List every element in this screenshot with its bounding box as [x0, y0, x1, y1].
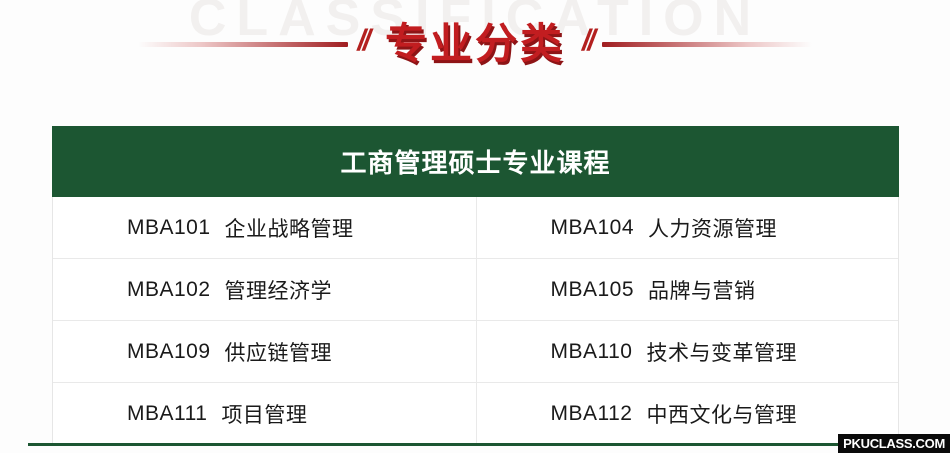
- table-row: MBA102 管理经济学 MBA105 品牌与营销: [53, 259, 898, 321]
- course-name: 技术与变革管理: [647, 337, 798, 367]
- course-table-header-title: 工商管理硕士专业课程: [340, 143, 610, 180]
- footer-divider: [28, 443, 920, 446]
- course-table: 工商管理硕士专业课程 MBA101 企业战略管理 MBA104 人力资源管理 M…: [52, 126, 899, 444]
- course-code: MBA104: [551, 216, 635, 240]
- banner-rule-right: [602, 42, 812, 47]
- site-watermark-badge: PKUCLASS.COM: [838, 434, 950, 453]
- course-name: 项目管理: [221, 399, 307, 429]
- course-cell[interactable]: MBA105 品牌与营销: [476, 259, 899, 320]
- course-cell[interactable]: MBA110 技术与变革管理: [476, 321, 899, 382]
- course-code: MBA109: [127, 340, 211, 364]
- banner-slash-right-icon: //: [573, 26, 602, 62]
- course-code: MBA111: [127, 402, 207, 426]
- banner-rule-left: [138, 42, 348, 47]
- course-table-header: 工商管理硕士专业课程: [52, 126, 899, 197]
- course-name: 人力资源管理: [648, 213, 777, 243]
- course-cell[interactable]: MBA111 项目管理: [53, 383, 476, 444]
- course-cell[interactable]: MBA101 企业战略管理: [53, 197, 476, 258]
- course-code: MBA105: [551, 278, 635, 302]
- course-name: 供应链管理: [225, 337, 333, 367]
- table-row: MBA109 供应链管理 MBA110 技术与变革管理: [53, 321, 898, 383]
- page-title: 专业分类: [377, 23, 573, 65]
- course-cell[interactable]: MBA104 人力资源管理: [476, 197, 899, 258]
- course-name: 企业战略管理: [225, 213, 354, 243]
- course-name: 中西文化与管理: [647, 399, 798, 429]
- course-table-body: MBA101 企业战略管理 MBA104 人力资源管理 MBA102 管理经济学…: [52, 197, 899, 444]
- banner-slash-left-icon: //: [348, 26, 377, 62]
- course-cell[interactable]: MBA112 中西文化与管理: [476, 383, 899, 444]
- page-banner: CLASSIFICATION // 专业分类 //: [0, 0, 950, 100]
- course-code: MBA110: [551, 340, 633, 364]
- course-cell[interactable]: MBA102 管理经济学: [53, 259, 476, 320]
- course-code: MBA112: [551, 402, 633, 426]
- banner-inner: // 专业分类 //: [0, 14, 950, 74]
- course-name: 管理经济学: [225, 275, 333, 305]
- course-cell[interactable]: MBA109 供应链管理: [53, 321, 476, 382]
- course-code: MBA102: [127, 278, 211, 302]
- table-row: MBA111 项目管理 MBA112 中西文化与管理: [53, 383, 898, 444]
- course-name: 品牌与营销: [648, 275, 756, 305]
- table-row: MBA101 企业战略管理 MBA104 人力资源管理: [53, 197, 898, 259]
- course-code: MBA101: [127, 216, 211, 240]
